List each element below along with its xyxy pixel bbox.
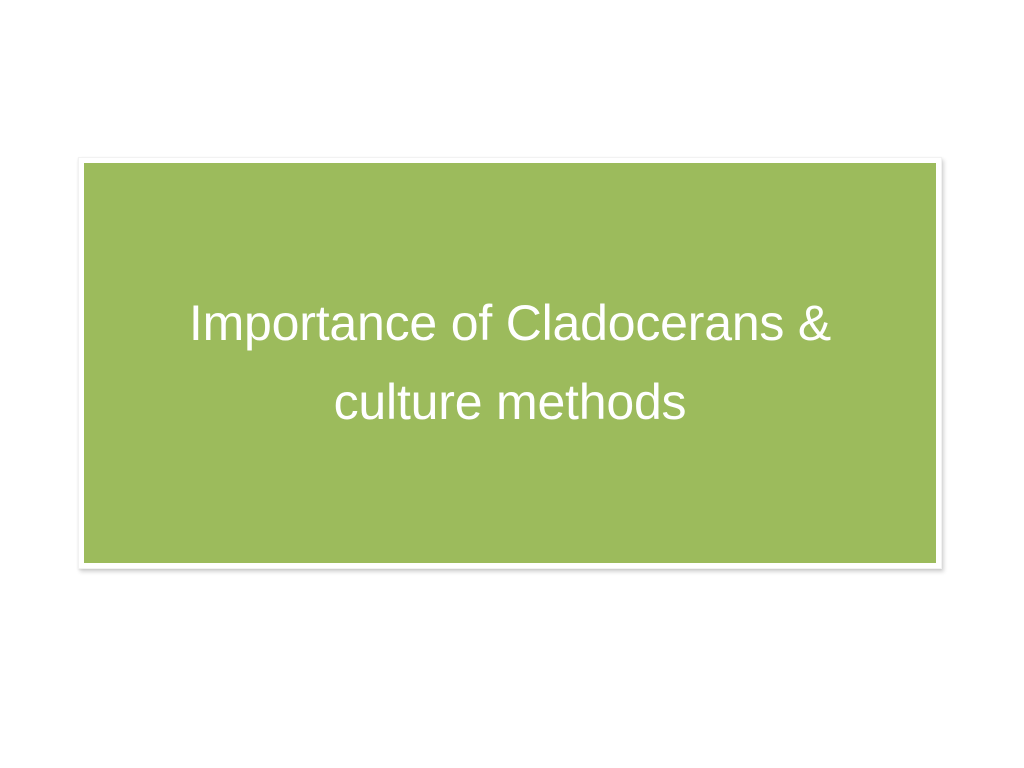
title-line-1: Importance of Cladocerans & xyxy=(130,284,890,363)
slide-canvas: Importance of Cladocerans & culture meth… xyxy=(0,0,1024,768)
title-line-2: culture methods xyxy=(130,363,890,442)
title-textbox: Importance of Cladocerans & culture meth… xyxy=(110,284,910,442)
title-banner: Importance of Cladocerans & culture meth… xyxy=(84,163,936,563)
